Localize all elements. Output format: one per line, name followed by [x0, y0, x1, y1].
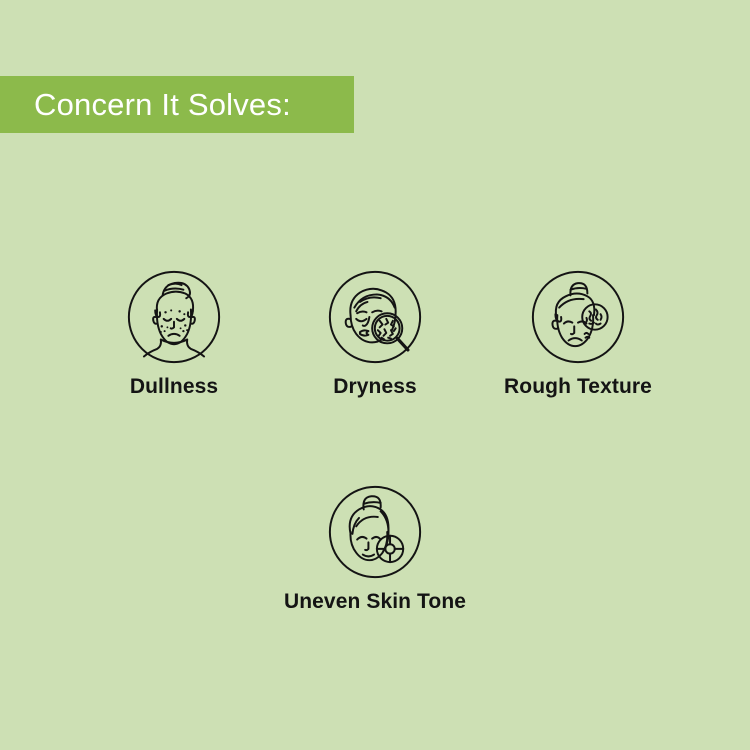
concern-item-uneven-skin-tone: Uneven Skin Tone — [255, 485, 495, 612]
header-banner: Concern It Solves: — [0, 76, 354, 133]
concern-label-rough-texture: Rough Texture — [458, 376, 698, 397]
face-magnifier-dry-skin-icon — [328, 270, 422, 364]
concern-infographic: Concern It Solves: — [0, 0, 750, 750]
concern-item-rough-texture: Rough Texture — [458, 270, 698, 397]
face-rough-texture-patch-icon — [531, 270, 625, 364]
face-color-wheel-icon — [328, 485, 422, 579]
dull-face-spots-towel-icon — [127, 270, 221, 364]
concern-label-uneven-skin-tone: Uneven Skin Tone — [255, 591, 495, 612]
page-title: Concern It Solves: — [0, 89, 291, 120]
